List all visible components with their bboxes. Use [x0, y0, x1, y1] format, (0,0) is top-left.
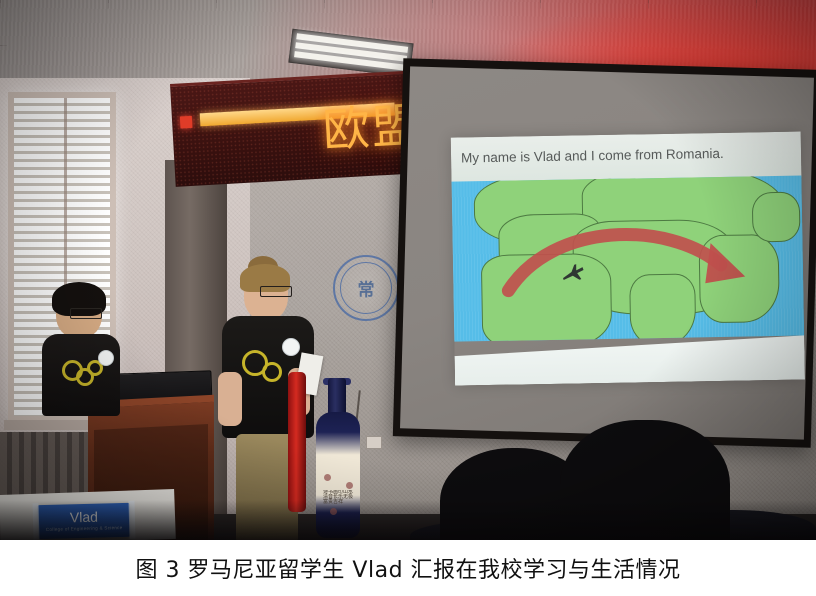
- foreground-shadow: [0, 500, 816, 540]
- world-map-eurasia: [451, 176, 804, 342]
- assistant-badge: [98, 350, 114, 366]
- assistant-glasses-icon: [70, 308, 102, 319]
- led-banner: 欧盟: [170, 70, 430, 187]
- figure-caption-text: 图 3 罗马尼亚留学生 Vlad 汇报在我校学习与生活情况: [135, 552, 680, 584]
- presentation-slide: My name is Vlad and I come from Romania.: [451, 132, 805, 386]
- gear-graphic-icon: [262, 362, 282, 382]
- flight-path-arrow-icon: [452, 216, 804, 342]
- slide-footer-band: [454, 334, 805, 386]
- projection-screen: My name is Vlad and I come from Romania.: [393, 58, 816, 448]
- wall-outlet: [366, 436, 382, 449]
- presenter-badge: [282, 338, 300, 356]
- figure-container: 欧盟 常 My name is Vlad and I come from Rom…: [0, 0, 816, 596]
- vase-flower-motif: [324, 474, 331, 481]
- university-emblem: 常: [333, 255, 399, 321]
- screen-surface: My name is Vlad and I come from Romania.: [400, 66, 814, 439]
- presenter-glasses-icon: [260, 286, 292, 297]
- led-indicator-square: [180, 116, 193, 129]
- fire-extinguisher: [288, 372, 306, 512]
- emblem-character: 常: [358, 276, 375, 301]
- assistant-tshirt: [42, 334, 120, 416]
- person-assistant: [42, 286, 120, 416]
- presenter-left-arm: [218, 372, 242, 426]
- photograph: 欧盟 常 My name is Vlad and I come from Rom…: [0, 0, 816, 540]
- figure-caption: 图 3 罗马尼亚留学生 Vlad 汇报在我校学习与生活情况: [0, 540, 816, 596]
- vase-flower-motif: [346, 482, 353, 489]
